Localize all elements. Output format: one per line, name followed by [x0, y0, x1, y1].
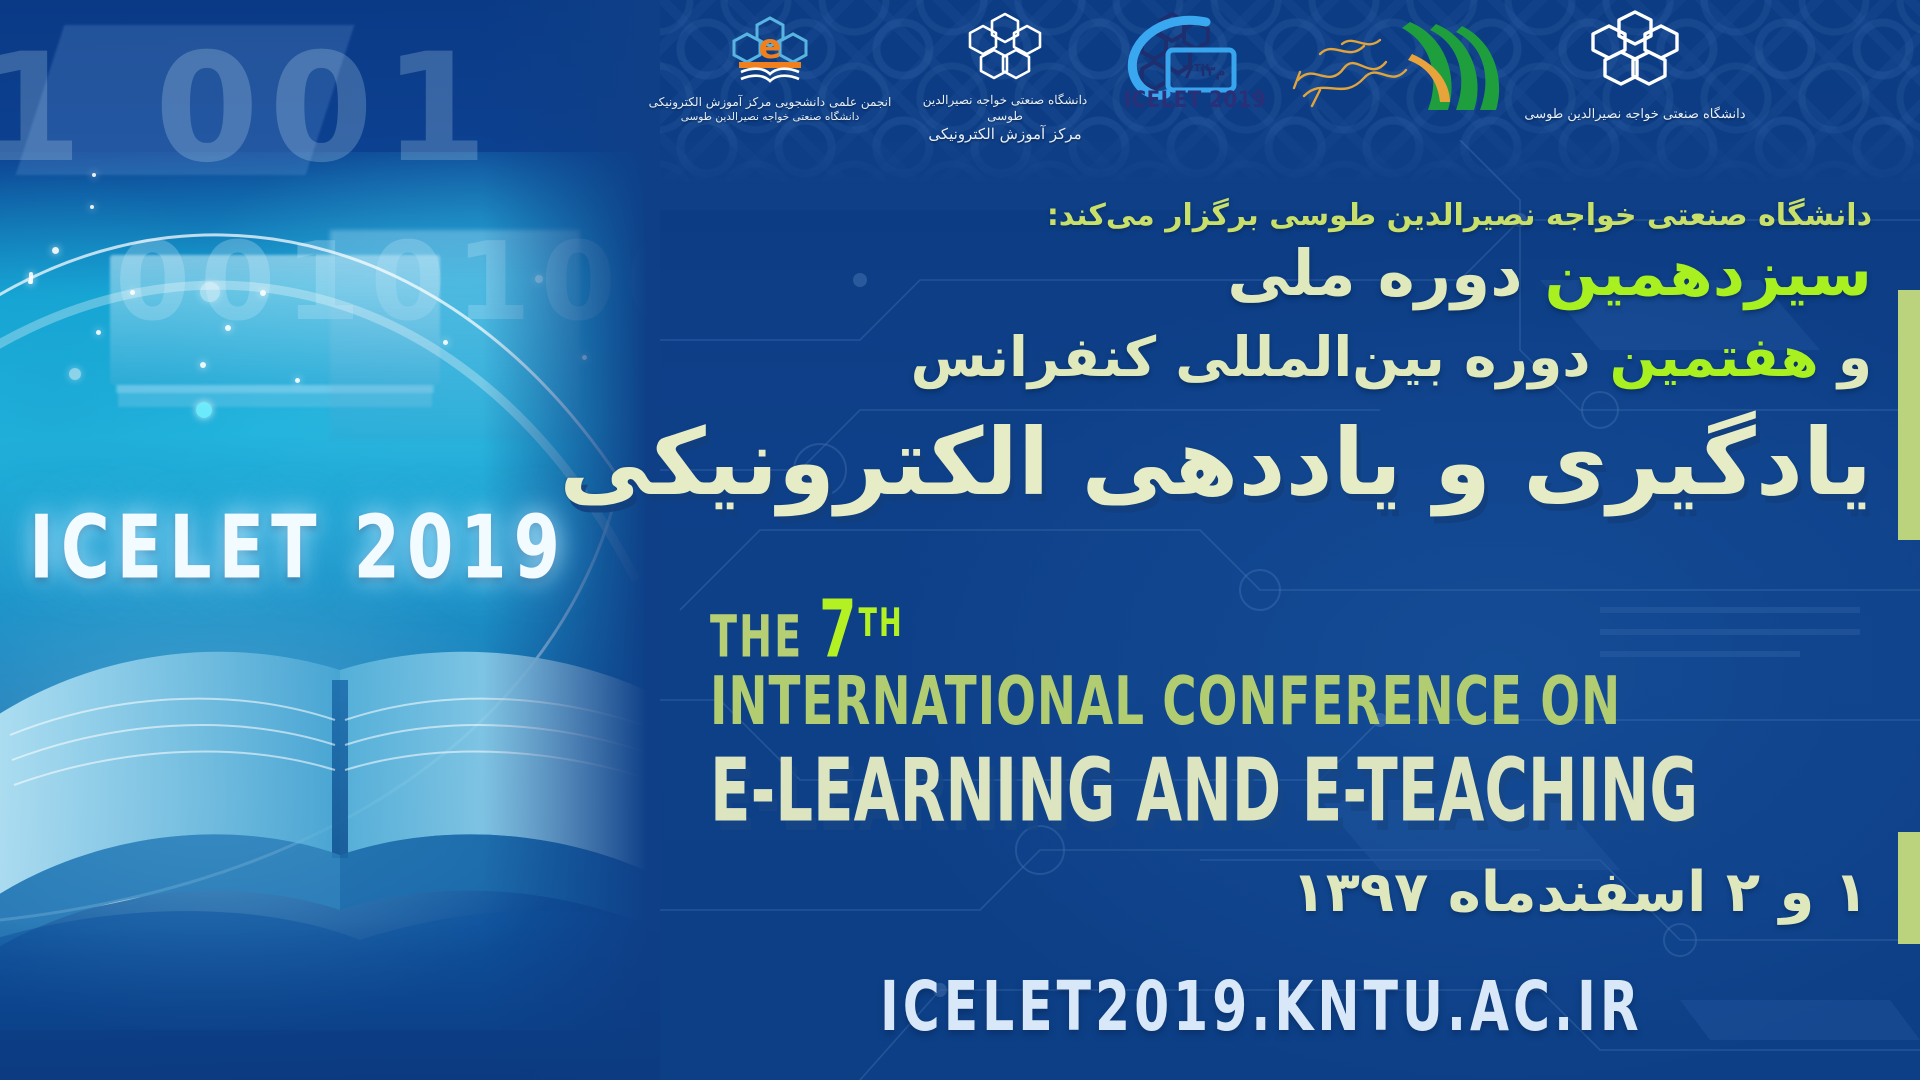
english-the-seventh: THE 7TH: [710, 584, 904, 676]
headline-2-prefix: و: [1838, 325, 1872, 389]
headline-1-emphasis: سیزدهمین: [1544, 237, 1872, 310]
logo-caption: دانشگاه صنعتی خواجه نصیرالدین طوسی: [910, 92, 1100, 124]
headline-2-emphasis: هفتمین: [1610, 325, 1819, 389]
organizer-kicker: دانشگاه صنعتی خواجه نصیرالدین طوسی برگزا…: [872, 196, 1872, 235]
conference-title-persian: یادگیری و یاددهی الکترونیکی: [612, 410, 1872, 516]
headline-line-1: سیزدهمین دوره ملی: [1227, 242, 1872, 305]
event-date: ۱ و ۲ اسفندماه ۱۳۹۷: [1292, 860, 1868, 925]
headline-1-rest: دوره ملی: [1227, 237, 1522, 310]
icelet-wordmark: ICELET 2019: [18, 497, 578, 598]
english-subtitle: INTERNATIONAL CONFERENCE ON: [710, 664, 1621, 741]
left-panel-bottom-blend: [0, 922, 660, 1080]
the-label: THE: [710, 604, 803, 671]
headline-line-2: و هفتمین دوره بین‌المللی کنفرانس: [911, 330, 1872, 385]
logo-strip: e انجمن علمی دانشجویی مرکز آموزش الکترون…: [560, 0, 1920, 170]
kntu-cube-icon: [1583, 6, 1687, 102]
icelet-swoosh-cube-icon: 7 TH ۱۳م ICELET 2019: [1120, 6, 1270, 110]
accent-bar-top: [1898, 290, 1920, 540]
svg-text:e: e: [758, 27, 781, 67]
conference-poster: 1 001 0010100: [0, 0, 1920, 1080]
svg-text:ICELET 2019: ICELET 2019: [1124, 88, 1267, 110]
kntu-university-logo: دانشگاه صنعتی خواجه نصیرالدین طوسی: [1520, 6, 1750, 124]
kntu-cube-icon: [966, 8, 1044, 88]
headline-2-rest: دوره بین‌المللی کنفرانس: [911, 325, 1591, 389]
accent-bar-bottom: [1898, 832, 1920, 944]
green-arcs-icon: [1290, 10, 1500, 114]
logo-caption: انجمن علمی دانشجویی مرکز آموزش الکترونیک…: [620, 94, 920, 110]
e-book-hexagon-icon: e: [727, 14, 813, 90]
student-scientific-association-logo: e انجمن علمی دانشجویی مرکز آموزش الکترون…: [620, 14, 920, 124]
website-url[interactable]: ICELET2019.KNTU.AC.IR: [880, 968, 1643, 1047]
logo-caption-secondary: دانشگاه صنعتی خواجه نصیرالدین طوسی: [620, 110, 920, 124]
icelet-2019-logo: 7 TH ۱۳م ICELET 2019: [1100, 6, 1290, 114]
seventh-number: 7: [819, 584, 859, 676]
iranian-elearning-association-logo: انجمن یادگیری الکترونیکی ایران: [1280, 10, 1510, 118]
logo-caption-secondary: مرکز آموزش الکترونیکی: [910, 124, 1100, 144]
english-title: E-LEARNING AND E-TEACHING: [710, 740, 1698, 842]
logo-caption: دانشگاه صنعتی خواجه نصیرالدین طوسی: [1520, 106, 1750, 124]
seventh-ordinal: TH: [859, 600, 904, 646]
kntu-elearning-center-logo: دانشگاه صنعتی خواجه نصیرالدین طوسی مرکز …: [910, 8, 1100, 145]
svg-text:7: 7: [1182, 62, 1195, 83]
svg-text:۱۳م: ۱۳م: [1198, 64, 1225, 80]
